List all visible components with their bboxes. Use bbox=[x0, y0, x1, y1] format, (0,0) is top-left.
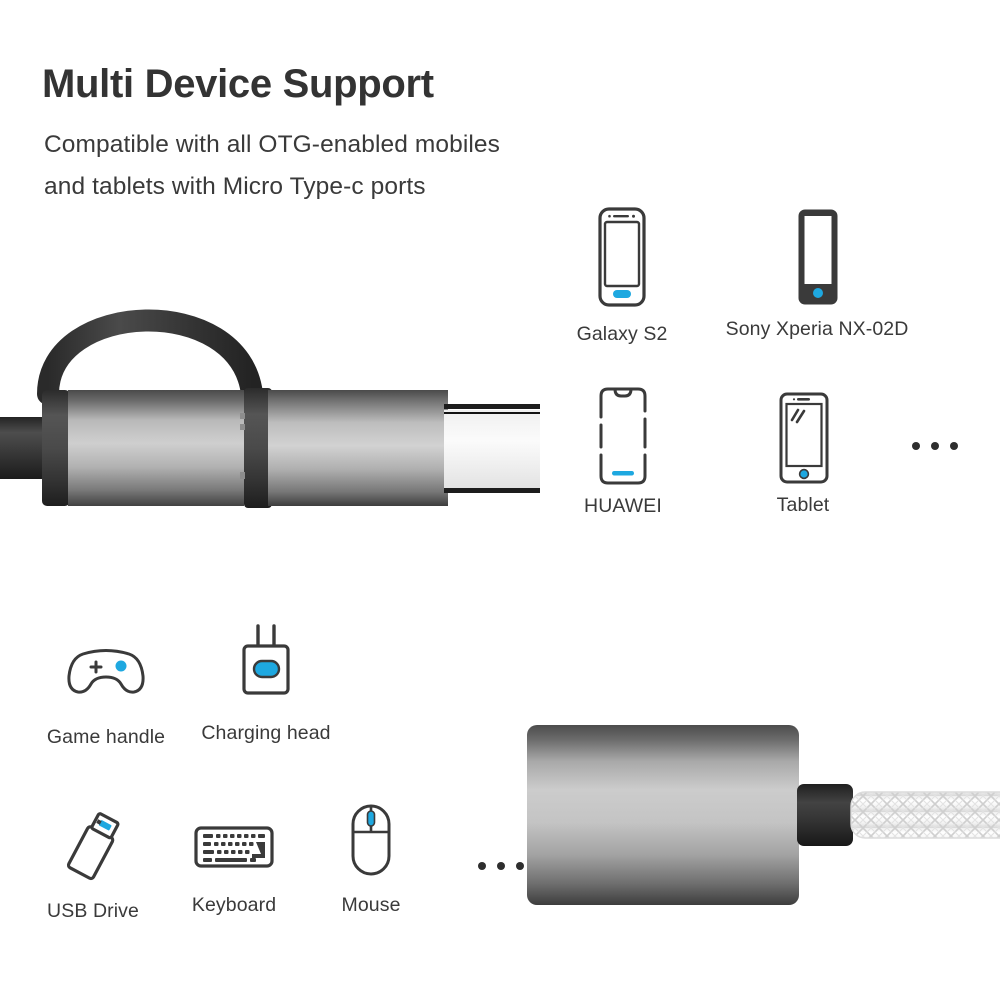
accessory-label-usb-drive: USB Drive bbox=[28, 900, 158, 923]
phone-xperia-icon bbox=[782, 205, 852, 310]
page-title: Multi Device Support bbox=[42, 62, 434, 107]
subtitle-line-1: Compatible with all OTG-enabled mobiles bbox=[44, 131, 500, 159]
device-label-sony-xperia: Sony Xperia NX-02D bbox=[712, 318, 922, 341]
accessory-label-keyboard: Keyboard bbox=[170, 894, 298, 917]
device-item-galaxy-s2: Galaxy S2 bbox=[567, 205, 677, 346]
device-label-huawei: HUAWEI bbox=[568, 495, 678, 518]
accessory-item-keyboard: Keyboard bbox=[170, 806, 298, 917]
device-item-tablet: Tablet bbox=[748, 390, 858, 517]
tablet-icon bbox=[767, 390, 839, 486]
keyboard-icon bbox=[188, 806, 280, 882]
subtitle-line-2: and tablets with Micro Type-c ports bbox=[44, 173, 426, 201]
ellipsis-icon bbox=[912, 442, 958, 450]
device-item-sony-xperia: Sony Xperia NX-02D bbox=[712, 205, 922, 341]
usb-a-female-adapter-image bbox=[455, 700, 1000, 930]
phone-galaxy-icon bbox=[582, 205, 662, 310]
accessory-label-game-handle: Game handle bbox=[36, 726, 176, 749]
charger-plug-icon bbox=[231, 622, 301, 704]
accessory-item-mouse: Mouse bbox=[310, 800, 432, 917]
device-label-galaxy-s2: Galaxy S2 bbox=[567, 323, 677, 346]
mouse-icon bbox=[339, 800, 403, 884]
two-in-one-connector-image bbox=[0, 282, 540, 512]
usb-flash-drive-icon bbox=[54, 806, 132, 888]
device-label-tablet: Tablet bbox=[748, 494, 858, 517]
accessory-item-game-handle: Game handle bbox=[36, 640, 176, 749]
phone-huawei-notch-icon bbox=[590, 385, 656, 487]
accessory-label-charging-head: Charging head bbox=[196, 722, 336, 745]
accessory-label-mouse: Mouse bbox=[310, 894, 432, 917]
gamepad-icon bbox=[61, 640, 151, 704]
device-item-huawei: HUAWEI bbox=[568, 385, 678, 518]
accessory-item-usb-drive: USB Drive bbox=[28, 806, 158, 923]
accessory-item-charging-head: Charging head bbox=[196, 622, 336, 745]
